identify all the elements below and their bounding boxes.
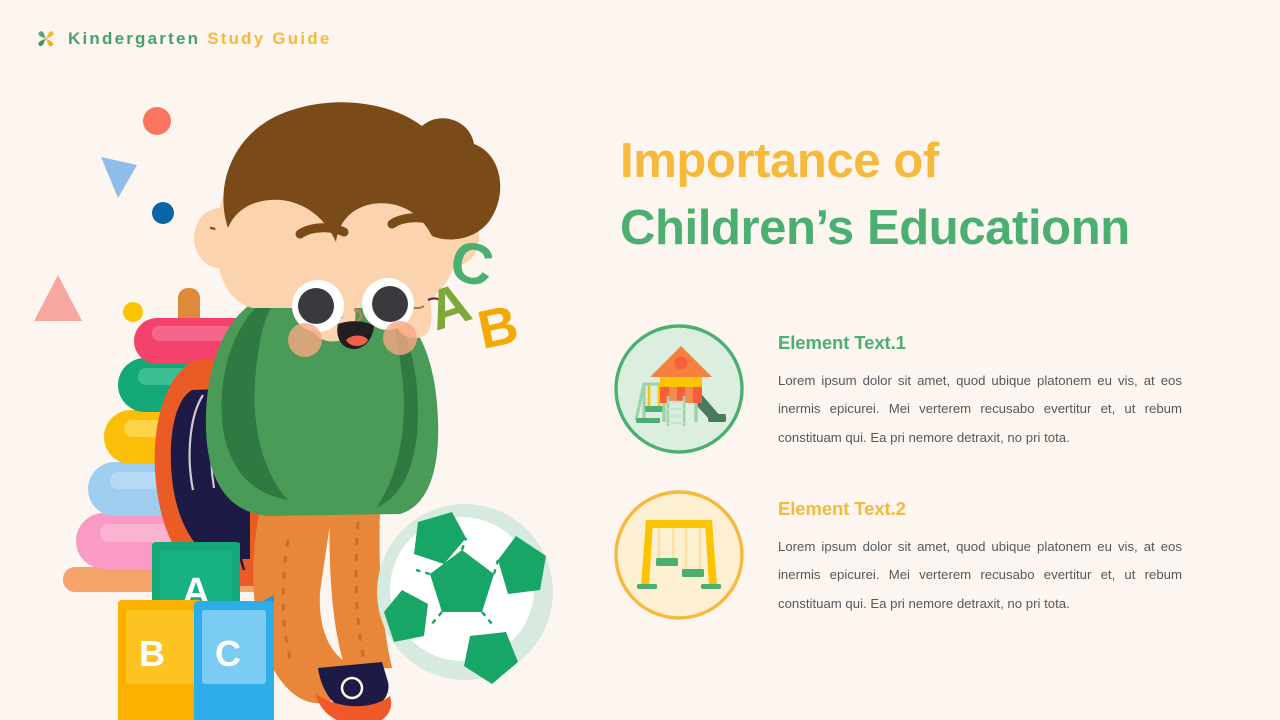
playground-house-slide-icon[interactable] (612, 322, 746, 456)
feature-body-1: Element Text.1 Lorem ipsum dolor sit ame… (778, 322, 1182, 452)
confetti-triangle-blue (101, 157, 137, 198)
feature-heading-2: Element Text.2 (778, 498, 1182, 520)
block-letter-B: B (139, 633, 165, 674)
brand-name-secondary: Study Guide (207, 29, 331, 48)
legs-and-pants (253, 500, 392, 720)
feature-item-1: Element Text.1 Lorem ipsum dolor sit ame… (612, 322, 1212, 456)
clover-pinwheel-icon (34, 27, 58, 51)
confetti-triangle-pink (34, 275, 82, 321)
feature-body-2: Element Text.2 Lorem ipsum dolor sit ame… (778, 488, 1182, 618)
feature-list: Element Text.1 Lorem ipsum dolor sit ame… (612, 322, 1212, 654)
feature-text-2: Lorem ipsum dolor sit amet, quod ubique … (778, 533, 1182, 618)
feature-text-1: Lorem ipsum dolor sit amet, quod ubique … (778, 367, 1182, 452)
page-title: Importance of Children’s Educationn (620, 128, 1220, 262)
title-block: Importance of Children’s Educationn (620, 128, 1220, 262)
boy-with-backpack-toys-illustration: A C B A B C (0, 70, 600, 720)
page-title-line-1: Importance of (620, 128, 1220, 195)
floating-letter-B: B (473, 294, 524, 361)
swing-set-icon[interactable] (612, 488, 746, 622)
brand-name-primary: Kindergarten (68, 29, 200, 48)
slide-canvas: KindergartenStudy Guide (0, 0, 1280, 720)
page-title-line-2: Children’s Educationn (620, 195, 1220, 262)
brand-header: KindergartenStudy Guide (34, 27, 332, 51)
feature-item-2: Element Text.2 Lorem ipsum dolor sit ame… (612, 488, 1212, 622)
confetti-circle-coral (143, 107, 171, 135)
soccer-ball (377, 504, 553, 684)
feature-heading-1: Element Text.1 (778, 332, 1182, 354)
brand-title: KindergartenStudy Guide (68, 29, 332, 49)
confetti-dot-darkblue (152, 202, 174, 224)
block-letter-C: C (215, 633, 241, 674)
confetti-dot-yellow (123, 302, 143, 322)
